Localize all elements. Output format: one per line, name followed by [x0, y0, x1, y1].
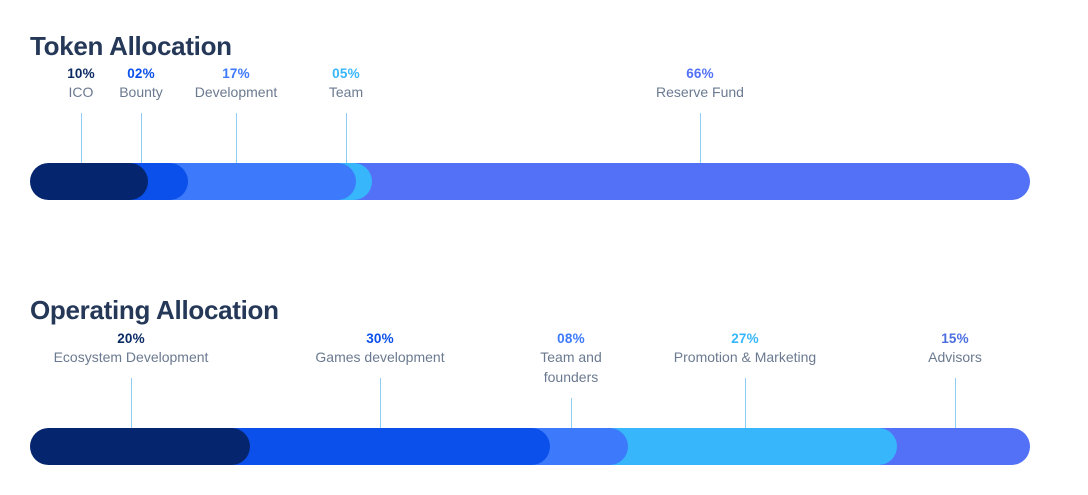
allocation-percent: 30%: [315, 330, 444, 347]
allocation-percent: 27%: [674, 330, 816, 347]
allocation-name: ICO: [67, 82, 95, 102]
allocation-name: Team and founders: [540, 347, 601, 387]
allocation-bar-segment: [30, 428, 250, 465]
allocation-percent: 02%: [119, 65, 163, 82]
allocation-name: Advisors: [928, 347, 982, 367]
allocation-name: Reserve Fund: [656, 82, 744, 102]
allocation-label: 17%Development: [195, 65, 278, 102]
allocation-bar-segment: [330, 163, 1030, 200]
allocation-label: 15%Advisors: [928, 330, 982, 367]
allocation-name: Promotion & Marketing: [674, 347, 816, 367]
allocation-name: Bounty: [119, 82, 163, 102]
allocation-name: Team: [329, 82, 363, 102]
token-allocation-labels: 10%ICO02%Bounty17%Development05%Team66%R…: [0, 0, 1088, 250]
allocation-percent: 17%: [195, 65, 278, 82]
operating-allocation-section: Operating Allocation 20%Ecosystem Develo…: [0, 255, 1088, 495]
allocation-percent: 15%: [928, 330, 982, 347]
allocation-name: Development: [195, 82, 278, 102]
token-allocation-section: Token Allocation 10%ICO02%Bounty17%Devel…: [0, 0, 1088, 250]
allocation-label: 27%Promotion & Marketing: [674, 330, 816, 367]
allocation-percent: 20%: [54, 330, 209, 347]
allocation-label: 08%Team and founders: [540, 330, 601, 387]
allocation-percent: 10%: [67, 65, 95, 82]
allocation-label: 02%Bounty: [119, 65, 163, 102]
allocation-label: 05%Team: [329, 65, 363, 102]
allocation-label: 20%Ecosystem Development: [54, 330, 209, 367]
allocation-percent: 05%: [329, 65, 363, 82]
allocation-bar-segment: [30, 163, 148, 200]
allocation-label: 30%Games development: [315, 330, 444, 367]
allocation-bar-segment: [585, 428, 897, 465]
allocation-label: 66%Reserve Fund: [656, 65, 744, 102]
allocation-name: Ecosystem Development: [54, 347, 209, 367]
allocation-label: 10%ICO: [67, 65, 95, 102]
allocation-name: Games development: [315, 347, 444, 367]
allocation-percent: 66%: [656, 65, 744, 82]
allocation-bar-segment: [205, 428, 550, 465]
allocation-percent: 08%: [540, 330, 601, 347]
